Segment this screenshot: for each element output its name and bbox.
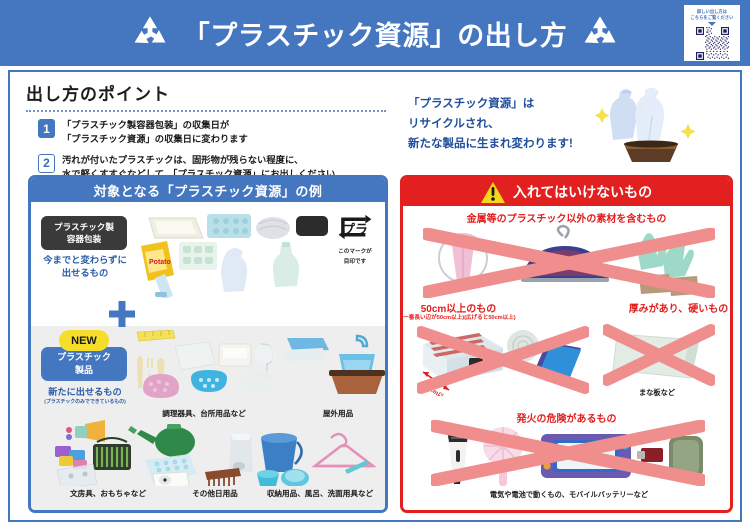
item-caption-outdoor: 屋外用品 — [303, 408, 373, 419]
qr-caption-line2: こちらをご覧ください — [691, 15, 734, 21]
item-caption-kitchen: 調理器具、台所用品など — [139, 408, 269, 419]
forbidden-panel-title: 入れてはいけないもの — [513, 182, 652, 202]
intro-line1: 「プラスチック資源」は — [408, 94, 573, 114]
recycle-icon — [131, 14, 169, 52]
packaging-items-illustration: Potato — [131, 206, 331, 298]
point-text-1: 「プラスチック製容器包装」の収集日が 「プラスチック資源」の収集日に変わります — [62, 119, 248, 147]
point-number-1: 1 — [38, 119, 55, 138]
packaging-caption-line1: 今までと変わらずに — [37, 254, 133, 267]
qr-arrow-icon — [708, 22, 716, 26]
packaging-tag-line2: 容器包装 — [67, 233, 101, 245]
intro-line2: リサイクルされ、 — [408, 114, 573, 134]
intro-line3: 新たな製品に生まれ変わります! — [408, 134, 573, 154]
plus-icon — [107, 299, 137, 329]
points-divider — [26, 110, 386, 112]
points-section: 出し方のポイント 1 「プラスチック製容器包装」の収集日が 「プラスチック資源」… — [26, 80, 386, 182]
forbidden-title-thick: 厚みがあり、硬いもの — [515, 300, 733, 315]
forbidden-panel-body: 金属等のプラスチック以外の素材を含むもの — [403, 206, 730, 510]
point-text-1-line2: 「プラスチック資源」の収集日に変わります — [62, 133, 248, 147]
qr-code-icon[interactable] — [696, 27, 729, 60]
plastic-mark-caption-line1: このマークが — [333, 249, 377, 257]
forbidden-title-metal: 金属等のプラスチック以外の素材を含むもの — [403, 210, 730, 225]
plastic-product-caption-small: (プラスチックのみでできているもの) — [33, 398, 137, 405]
point-item-1: 1 「プラスチック製容器包装」の収集日が 「プラスチック資源」の収集日に変わりま… — [26, 119, 386, 147]
forbidden-caption-electric: 電気や電池で動くもの、モバイルバッテリーなど — [449, 490, 689, 500]
points-title: 出し方のポイント — [26, 80, 386, 105]
qr-code-block[interactable]: 詳しい出し方は こちらをご覧ください — [684, 5, 740, 61]
forbidden-panel-header: 入れてはいけないもの — [403, 178, 730, 206]
item-caption-stationery: 文房具、おもちゃなど — [53, 488, 163, 499]
packaging-caption: 今までと変わらずに 出せるもの — [37, 254, 133, 281]
svg-text:プラ: プラ — [342, 222, 368, 237]
plastic-product-tag-line1: プラスチック — [57, 351, 111, 364]
item-caption-other-daily: その他日用品 — [171, 488, 259, 499]
intro-section: 「プラスチック資源」は リサイクルされ、 新たな製品に生まれ変わります! — [402, 86, 732, 172]
metal-items-illustration — [417, 224, 717, 300]
recycle-icon — [581, 14, 619, 52]
oversized-items-illustration: 50cm以上 — [413, 324, 593, 396]
forbidden-caption-cutting-board: まな板など — [617, 388, 697, 398]
svg-text:Potato: Potato — [149, 259, 171, 266]
packaging-tag: プラスチック製 容器包装 — [41, 216, 127, 250]
cutting-board-illustration — [599, 324, 719, 390]
point-text-1-line1: 「プラスチック製容器包装」の収集日が — [62, 119, 248, 133]
point-number-2: 2 — [38, 154, 55, 173]
packaging-caption-line2: 出せるもの — [37, 267, 133, 280]
intro-text: 「プラスチック資源」は リサイクルされ、 新たな製品に生まれ変わります! — [408, 94, 573, 154]
page-title: 「プラスチック資源」の出し方 — [183, 14, 567, 53]
plastic-mark-caption-line2: 目印です — [333, 259, 377, 267]
electric-items-illustration — [427, 422, 709, 488]
point-text-2-line1: 汚れが付いたプラスチックは、固形物が残らない程度に、 — [62, 154, 335, 168]
pla-recycle-mark-icon: プラ — [336, 212, 374, 242]
plastic-bag-to-planter-illustration — [590, 86, 710, 166]
daily-goods-illustration — [49, 420, 383, 486]
new-badge: NEW — [59, 330, 109, 351]
page-header: 「プラスチック資源」の出し方 詳しい出し方は こちらをご覧ください — [0, 0, 750, 66]
accepted-items-panel: 対象となる「プラスチック資源」の例 プラスチック製 容器包装 今までと変わらずに… — [28, 175, 388, 513]
content-frame: 出し方のポイント 1 「プラスチック製容器包装」の収集日が 「プラスチック資源」… — [8, 70, 742, 522]
kitchen-outdoor-items-illustration — [135, 330, 385, 404]
plastic-mark-block: プラ このマークが 目印です — [333, 212, 377, 267]
accepted-panel-body: プラスチック製 容器包装 今までと変わらずに 出せるもの — [31, 202, 385, 510]
warning-triangle-icon — [481, 182, 505, 203]
plastic-product-tag-line2: 製品 — [75, 364, 93, 377]
header-title-group: 「プラスチック資源」の出し方 — [131, 14, 619, 53]
item-caption-storage-bath: 収納用品、風呂、洗面用具など — [253, 488, 387, 499]
accepted-panel-header: 対象となる「プラスチック資源」の例 — [31, 178, 385, 202]
packaging-tag-line1: プラスチック製 — [54, 221, 114, 233]
plastic-product-caption: 新たに出せるもの — [33, 386, 137, 399]
forbidden-items-panel: 入れてはいけないもの 金属等のプラスチック以外の素材を含むもの — [400, 175, 733, 513]
plastic-product-tag: プラスチック 製品 — [41, 347, 127, 381]
